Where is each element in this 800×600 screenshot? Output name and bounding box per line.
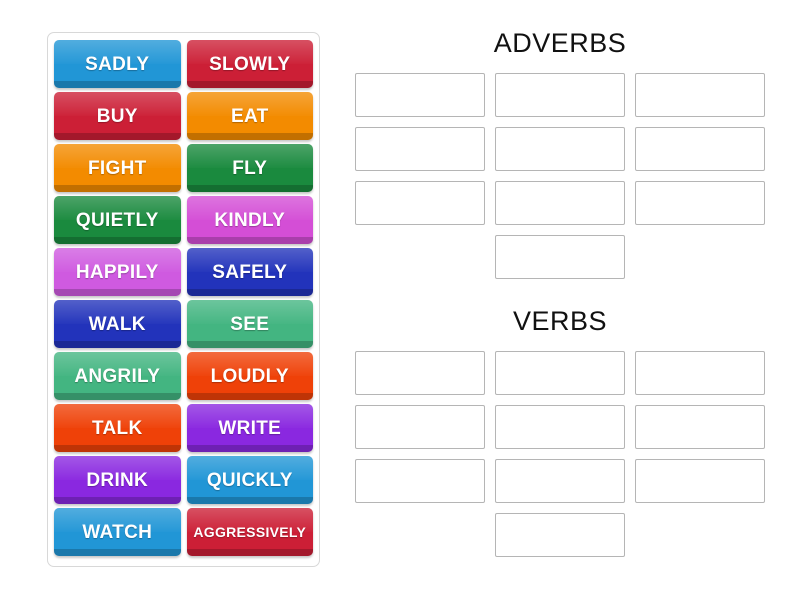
word-tile-label: SLOWLY [209,55,290,74]
word-tile-label: LOUDLY [211,367,289,386]
word-tile[interactable]: HAPPILY [54,248,181,296]
drop-slot-adverbs[interactable] [355,73,485,117]
drop-slot-adverbs[interactable] [635,127,765,171]
word-tile-label: FIGHT [88,159,147,178]
drop-slot-verbs[interactable] [635,351,765,395]
word-tile[interactable]: TALK [54,404,181,452]
word-tile[interactable]: AGGRESSIVELY [187,508,314,556]
drop-slot-grid-adverbs [350,73,770,279]
category-title-verbs: VERBS [350,306,770,337]
word-tile[interactable]: SADLY [54,40,181,88]
drop-slot-verbs[interactable] [355,405,485,449]
word-tile-label: QUIETLY [76,211,159,230]
drop-slot-verbs[interactable] [355,459,485,503]
word-tile-label: ANGRILY [74,367,160,386]
word-bank-panel: SADLYSLOWLYBUYEATFIGHTFLYQUIETLYKINDLYHA… [47,32,320,567]
word-tile[interactable]: SEE [187,300,314,348]
category-title-adverbs: ADVERBS [350,28,770,59]
word-tile[interactable]: ANGRILY [54,352,181,400]
word-tile[interactable]: KINDLY [187,196,314,244]
drop-slot-adverbs[interactable] [635,181,765,225]
word-tile-label: BUY [97,107,138,126]
word-tile-label: SADLY [85,55,149,74]
answer-area: ADVERBS VERBS [350,28,770,578]
word-tile[interactable]: LOUDLY [187,352,314,400]
word-tile-grid: SADLYSLOWLYBUYEATFIGHTFLYQUIETLYKINDLYHA… [54,40,313,559]
drop-slot-adverbs[interactable] [495,73,625,117]
drop-slot-adverbs[interactable] [635,73,765,117]
word-tile-label: WATCH [82,523,152,542]
word-tile-label: WRITE [218,419,281,438]
word-tile[interactable]: WRITE [187,404,314,452]
word-tile[interactable]: EAT [187,92,314,140]
drop-slot-verbs[interactable] [635,405,765,449]
word-tile-label: QUICKLY [207,471,293,490]
drop-slot-verbs[interactable] [355,351,485,395]
word-tile[interactable]: FLY [187,144,314,192]
word-tile[interactable]: QUICKLY [187,456,314,504]
word-tile[interactable]: SLOWLY [187,40,314,88]
drop-slot-verbs[interactable] [495,351,625,395]
word-tile-label: KINDLY [214,211,285,230]
word-tile[interactable]: WATCH [54,508,181,556]
word-tile-label: SAFELY [212,263,287,282]
drop-slot-adverbs[interactable] [495,181,625,225]
category-group-adverbs: ADVERBS [350,28,770,279]
drop-slot-verbs[interactable] [495,513,625,557]
word-tile[interactable]: DRINK [54,456,181,504]
drop-slot-adverbs[interactable] [495,127,625,171]
word-tile-label: HAPPILY [76,263,159,282]
word-tile[interactable]: BUY [54,92,181,140]
word-tile-label: DRINK [86,471,148,490]
word-tile[interactable]: SAFELY [187,248,314,296]
drop-slot-verbs[interactable] [635,459,765,503]
drop-slot-grid-verbs [350,351,770,557]
word-tile[interactable]: WALK [54,300,181,348]
word-tile-label: TALK [92,419,142,438]
drop-slot-verbs[interactable] [495,405,625,449]
drop-slot-verbs[interactable] [495,459,625,503]
drop-slot-adverbs[interactable] [355,127,485,171]
drop-slot-adverbs[interactable] [355,181,485,225]
word-tile-label: WALK [89,315,146,334]
category-group-verbs: VERBS [350,306,770,557]
word-tile[interactable]: QUIETLY [54,196,181,244]
word-tile[interactable]: FIGHT [54,144,181,192]
word-tile-label: EAT [231,107,269,126]
word-tile-label: FLY [232,159,267,178]
word-tile-label: SEE [230,315,269,334]
word-tile-label: AGGRESSIVELY [193,525,306,539]
drop-slot-adverbs[interactable] [495,235,625,279]
